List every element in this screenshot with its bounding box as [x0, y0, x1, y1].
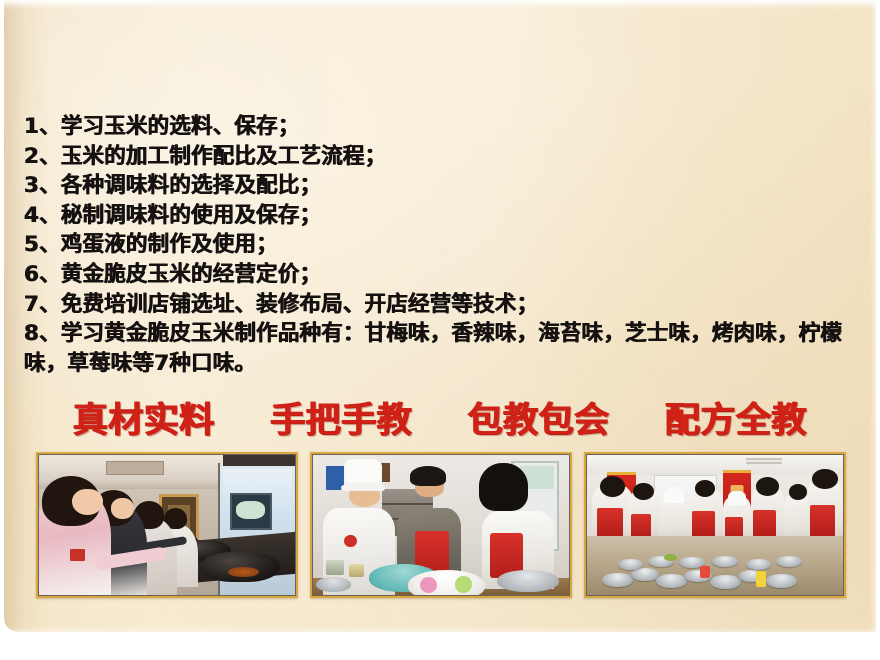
slogan-segment-4: 配方全教 — [665, 392, 807, 443]
photo-3-image — [587, 455, 843, 595]
course-item-2: 2、玉米的加工制作配比及工艺流程； — [24, 142, 860, 172]
photo-1-cooking-stations: 学员在靠窗的炒锅工位上排队实操，前排女学员穿粉色衣服，远处有显示器 — [36, 452, 298, 598]
course-item-3: 3、各种调味料的选择及配比； — [24, 171, 860, 201]
slogan-segment-3: 包教包会 — [468, 392, 610, 443]
course-item-5: 5、鸡蛋液的制作及使用； — [24, 230, 860, 260]
slogan-banner: 真材实料 手把手教 包教包会 配方全教 — [0, 392, 880, 443]
course-item-4: 4、秘制调味料的使用及保存； — [24, 201, 860, 231]
course-item-1: 1、学习玉米的选料、保存； — [24, 112, 860, 142]
course-item-6: 6、黄金脆皮玉米的经营定价； — [24, 260, 860, 290]
course-item-7: 7、免费培训店铺选址、装修布局、开店经营等技术； — [24, 290, 860, 320]
slogan-segment-2: 手把手教 — [270, 392, 412, 443]
photo-3-classroom: 教室内多名学员围站长桌实操，墙上挂红色锦旗，桌上摆满不锈钢料盆 — [584, 452, 846, 598]
course-item-8: 8、学习黄金脆皮玉米制作品种有：甘梅味，香辣味，海苔味，芝士味，烤肉味，柠檬味，… — [24, 319, 860, 378]
slogan-segment-1: 真材实料 — [73, 392, 215, 443]
photo-2-chef-teaching: 戴厨师帽的老师在指导两名系红围裙的学员，台面上摆放彩色料盆与不锈钢盆 — [310, 452, 572, 598]
poster-root: 1、学习玉米的选料、保存； 2、玉米的加工制作配比及工艺流程； 3、各种调味料的… — [0, 0, 880, 660]
photo-2-image — [313, 455, 569, 595]
photo-1-image — [39, 455, 295, 595]
photo-strip: 学员在靠窗的炒锅工位上排队实操，前排女学员穿粉色衣服，远处有显示器 — [36, 452, 846, 598]
course-list: 1、学习玉米的选料、保存； 2、玉米的加工制作配比及工艺流程； 3、各种调味料的… — [24, 112, 860, 378]
